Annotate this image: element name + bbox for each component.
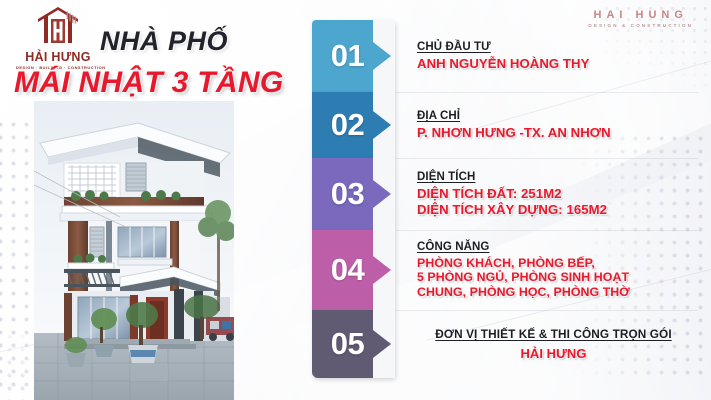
- row-label-02: ĐỊA CHỈ: [417, 110, 698, 122]
- poster-title-line2: MÁI NHẬT 3 TẦNG: [14, 66, 284, 100]
- row-badge-01: 01: [312, 20, 395, 92]
- info-row-04[interactable]: 04 CÔNG NĂNG PHÒNG KHÁCH, PHÒNG BẾP, 5 P…: [312, 230, 698, 310]
- badge-arrow-notch: [373, 158, 395, 230]
- row-value-02-0: P. NHƠN HƯNG -TX. AN NHƠN: [417, 125, 698, 141]
- row-number-02: 02: [331, 107, 364, 143]
- project-photo: [34, 101, 234, 400]
- row-number-05: 05: [331, 326, 364, 362]
- row-label-03: DIỆN TÍCH: [417, 171, 698, 183]
- row-badge-05: 05: [312, 310, 395, 378]
- row-label-01: CHỦ ĐẦU TƯ: [417, 41, 698, 53]
- row-text-04: CÔNG NĂNG PHÒNG KHÁCH, PHÒNG BẾP, 5 PHÒN…: [395, 230, 698, 310]
- info-row-01[interactable]: 01 CHỦ ĐẦU TƯ ANH NGUYỄN HOÀNG THY: [312, 20, 698, 92]
- row-label-05: ĐƠN VỊ THIẾT KẾ & THI CÔNG TRỌN GÓI: [435, 327, 671, 341]
- info-rows: 01 CHỦ ĐẦU TƯ ANH NGUYỄN HOÀNG THY 02 ĐỊ…: [312, 20, 698, 378]
- row-number-04: 04: [331, 252, 364, 288]
- row-text-02: ĐỊA CHỈ P. NHƠN HƯNG -TX. AN NHƠN: [395, 92, 698, 158]
- row-number-03: 03: [331, 176, 364, 212]
- row-badge-02: 02: [312, 92, 395, 158]
- row-value-01-0: ANH NGUYỄN HOÀNG THY: [417, 56, 698, 72]
- row-label-04: CÔNG NĂNG: [417, 241, 698, 253]
- row-text-03: DIỆN TÍCH DIỆN TÍCH ĐẤT: 251M2 DIỆN TÍCH…: [395, 158, 698, 230]
- row-text-05: ĐƠN VỊ THIẾT KẾ & THI CÔNG TRỌN GÓI HẢI …: [395, 310, 698, 378]
- badge-arrow-notch: [373, 230, 395, 310]
- info-row-03[interactable]: 03 DIỆN TÍCH DIỆN TÍCH ĐẤT: 251M2 DIỆN T…: [312, 158, 698, 230]
- info-row-05[interactable]: 05 ĐƠN VỊ THIẾT KẾ & THI CÔNG TRỌN GÓI H…: [312, 310, 698, 378]
- brand-logo: HẢI HƯNG DESIGN · BUILDING · CONSTRUCTIO…: [16, 6, 100, 70]
- info-row-02[interactable]: 02 ĐỊA CHỈ P. NHƠN HƯNG -TX. AN NHƠN: [312, 92, 698, 158]
- poster-canvas: HẢI HƯNG DESIGN · BUILDING · CONSTRUCTIO…: [0, 0, 711, 400]
- row-number-01: 01: [331, 38, 364, 74]
- poster-title-line1: NHÀ PHỐ: [100, 26, 228, 57]
- badge-arrow-notch: [373, 20, 395, 92]
- row-value-04-1: 5 PHÒNG NGỦ, PHÒNG SINH HOẠT: [417, 270, 698, 285]
- row-value-03-1: DIỆN TÍCH XÂY DỰNG: 165M2: [417, 202, 698, 218]
- row-value-04-2: CHUNG, PHÒNG HỌC, PHÒNG THỜ: [417, 285, 698, 300]
- badge-arrow-notch: [373, 310, 395, 378]
- brand-logo-name: HẢI HƯNG: [16, 50, 100, 64]
- row-value-04-0: PHÒNG KHÁCH, PHÒNG BẾP,: [417, 256, 698, 271]
- badge-arrow-notch: [373, 92, 395, 158]
- house-monogram-icon: [16, 6, 100, 49]
- row-text-01: CHỦ ĐẦU TƯ ANH NGUYỄN HOÀNG THY: [395, 20, 698, 92]
- row-badge-03: 03: [312, 158, 395, 230]
- row-badge-04: 04: [312, 230, 395, 310]
- row-value-03-0: DIỆN TÍCH ĐẤT: 251M2: [417, 186, 698, 202]
- row-value-05-0: HẢI HƯNG: [520, 346, 586, 361]
